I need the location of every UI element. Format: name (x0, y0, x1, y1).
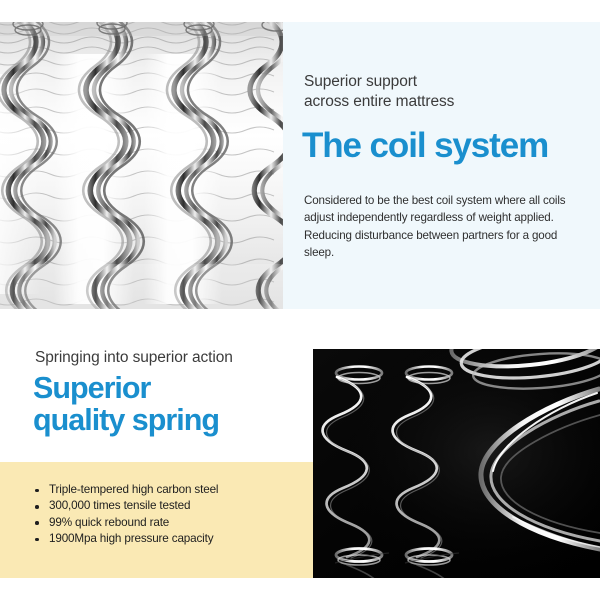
spring-heading-area: Springing into superior action Superior … (0, 310, 313, 462)
bottom-white-margin (0, 578, 600, 600)
bullet-dot-icon (35, 538, 39, 542)
coil-system-eyebrow-line2: across entire mattress (304, 92, 584, 112)
coil-system-headline: The coil system (302, 126, 592, 166)
spring-eyebrow: Springing into superior action (35, 348, 305, 368)
list-item-label: 1900Mpa high pressure capacity (49, 532, 213, 545)
coil-system-eyebrow: Superior support across entire mattress (304, 72, 584, 112)
list-item-label: Triple-tempered high carbon steel (49, 483, 218, 496)
bottom-section: Springing into superior action Superior … (0, 310, 600, 578)
coil-system-info-panel: Superior support across entire mattress … (283, 22, 600, 309)
list-item: 1900Mpa high pressure capacity (33, 531, 218, 547)
bullet-dot-icon (35, 521, 39, 525)
coil-system-body-text: Considered to be the best coil system wh… (304, 192, 567, 262)
list-item-label: 300,000 times tensile tested (49, 499, 190, 512)
spring-headline-line1: Superior (33, 372, 313, 404)
list-item: 300,000 times tensile tested (33, 498, 218, 514)
coil-springs-photo-image (313, 349, 600, 578)
coil-rows-photo-image (0, 22, 283, 309)
spring-headline-line2: quality spring (33, 404, 313, 436)
list-item-label: 99% quick rebound rate (49, 516, 169, 529)
list-item: Triple-tempered high carbon steel (33, 482, 218, 498)
bullet-dot-icon (35, 489, 39, 493)
top-section: Superior support across entire mattress … (0, 22, 600, 309)
top-white-margin (0, 0, 600, 22)
coil-springs-photo (313, 349, 600, 578)
bullet-dot-icon (35, 505, 39, 509)
spring-headline: Superior quality spring (33, 372, 313, 436)
list-item: 99% quick rebound rate (33, 515, 218, 531)
spring-feature-list: Triple-tempered high carbon steel 300,00… (33, 482, 218, 548)
coil-rows-photo (0, 22, 283, 309)
spring-feature-panel: Triple-tempered high carbon steel 300,00… (0, 462, 313, 578)
coil-system-eyebrow-line1: Superior support (304, 73, 417, 90)
infographic-page: Superior support across entire mattress … (0, 0, 600, 600)
